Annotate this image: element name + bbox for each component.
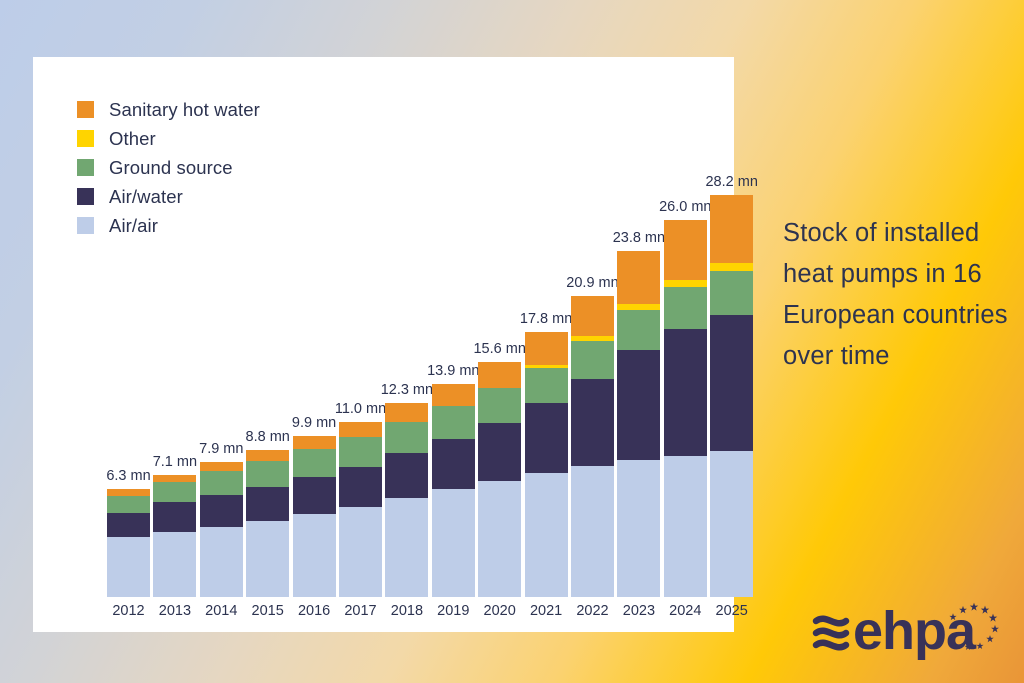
bar-segment-ground-source	[710, 271, 753, 315]
bar-total-label: 23.8 mn	[613, 230, 665, 246]
bar-segment-air-water	[339, 467, 382, 507]
bar-group-2016[interactable]: 9.9 mn2016	[293, 436, 336, 597]
bar-group-2020[interactable]: 15.6 mn2020	[478, 362, 521, 597]
bar-group-2025[interactable]: 28.2 mn2025	[710, 195, 753, 597]
bar-segment-air-water	[246, 487, 289, 521]
bar-segment-air-air	[339, 507, 382, 597]
x-axis-tick-2025: 2025	[716, 603, 748, 619]
stacked-bar[interactable]: 15.6 mn	[478, 362, 521, 597]
bar-segment-sanitary-hot-water	[153, 475, 196, 482]
bar-group-2012[interactable]: 6.3 mn2012	[107, 489, 150, 597]
bar-total-label: 20.9 mn	[566, 275, 618, 291]
bar-group-2022[interactable]: 20.9 mn2022	[571, 296, 614, 597]
bar-segment-air-water	[710, 315, 753, 451]
stacked-bar[interactable]: 28.2 mn	[710, 195, 753, 597]
stacked-bar[interactable]: 11.0 mn	[339, 422, 382, 597]
bar-group-2021[interactable]: 17.8 mn2021	[525, 332, 568, 597]
bar-segment-ground-source	[153, 482, 196, 502]
bar-segment-air-air	[478, 481, 521, 597]
stacked-bar[interactable]: 7.1 mn	[153, 475, 196, 597]
bar-total-label: 28.2 mn	[705, 174, 757, 190]
x-axis-tick-2020: 2020	[484, 603, 516, 619]
legend-item-label: Air/air	[109, 215, 158, 237]
x-axis-tick-2019: 2019	[437, 603, 469, 619]
bar-segment-air-air	[664, 456, 707, 597]
bar-total-label: 12.3 mn	[381, 382, 433, 398]
bar-segment-ground-source	[525, 368, 568, 403]
bar-segment-air-water	[571, 379, 614, 466]
bar-segment-sanitary-hot-water	[571, 296, 614, 336]
bar-segment-ground-source	[200, 471, 243, 495]
bar-total-label: 17.8 mn	[520, 311, 572, 327]
bar-total-label: 6.3 mn	[106, 468, 150, 484]
bar-total-label: 8.8 mn	[246, 429, 290, 445]
bar-group-2013[interactable]: 7.1 mn2013	[153, 475, 196, 597]
x-axis-tick-2018: 2018	[391, 603, 423, 619]
stacked-bar[interactable]: 13.9 mn	[432, 384, 475, 597]
legend-item-label: Other	[109, 128, 156, 150]
bar-group-2023[interactable]: 23.8 mn2023	[617, 251, 660, 597]
bar-segment-air-water	[107, 513, 150, 537]
bar-segment-air-air	[246, 521, 289, 597]
legend-item-sanitary-hot-water[interactable]: Sanitary hot water	[77, 95, 260, 124]
bar-segment-air-water	[617, 350, 660, 460]
bar-total-label: 7.9 mn	[199, 441, 243, 457]
bar-group-2015[interactable]: 8.8 mn2015	[246, 450, 289, 597]
stacked-bar[interactable]: 26.0 mn	[664, 220, 707, 597]
bar-segment-air-water	[385, 453, 428, 498]
bar-segment-air-air	[571, 466, 614, 597]
bar-segment-air-water	[432, 439, 475, 489]
page-title: Stock of installed heat pumps in 16 Euro…	[783, 213, 1008, 377]
bar-segment-air-water	[525, 403, 568, 473]
bar-segment-sanitary-hot-water	[525, 332, 568, 365]
bar-segment-air-air	[107, 537, 150, 597]
bar-segment-air-air	[153, 532, 196, 597]
stacked-bar[interactable]: 9.9 mn	[293, 436, 336, 597]
bar-segment-ground-source	[664, 287, 707, 329]
bar-segment-air-water	[293, 477, 336, 514]
bar-segment-air-air	[617, 460, 660, 597]
stacked-bar[interactable]: 8.8 mn	[246, 450, 289, 597]
chart-panel: 6.3 mn20127.1 mn20137.9 mn20148.8 mn2015…	[33, 57, 734, 632]
bar-segment-ground-source	[478, 388, 521, 423]
bar-segment-air-air	[293, 514, 336, 597]
x-axis-tick-2022: 2022	[576, 603, 608, 619]
bar-segment-air-air	[525, 473, 568, 597]
bar-segment-ground-source	[339, 437, 382, 467]
bar-segment-sanitary-hot-water	[617, 251, 660, 304]
stacked-bar[interactable]: 23.8 mn	[617, 251, 660, 597]
legend-swatch-icon	[77, 159, 94, 176]
bar-segment-ground-source	[617, 310, 660, 350]
bar-segment-other	[710, 263, 753, 271]
x-axis-tick-2023: 2023	[623, 603, 655, 619]
bar-segment-sanitary-hot-water	[293, 436, 336, 449]
x-axis-tick-2014: 2014	[205, 603, 237, 619]
bar-segment-air-air	[200, 527, 243, 597]
bar-segment-air-water	[200, 495, 243, 527]
logo-wordmark: ehpa	[853, 601, 977, 661]
bar-total-label: 7.1 mn	[153, 454, 197, 470]
bar-segment-air-water	[478, 423, 521, 481]
bar-segment-ground-source	[293, 449, 336, 477]
stacked-bar[interactable]: 6.3 mn	[107, 489, 150, 597]
bar-segment-ground-source	[432, 406, 475, 439]
ehpa-logo: ehpa	[812, 592, 1002, 662]
legend-swatch-icon	[77, 130, 94, 147]
bar-segment-sanitary-hot-water	[246, 450, 289, 461]
bar-total-label: 15.6 mn	[473, 341, 525, 357]
x-axis-tick-2012: 2012	[112, 603, 144, 619]
bar-segment-air-air	[710, 451, 753, 597]
legend-item-label: Sanitary hot water	[109, 99, 260, 121]
bar-segment-sanitary-hot-water	[200, 462, 243, 471]
bar-total-label: 9.9 mn	[292, 415, 336, 431]
legend-item-label: Air/water	[109, 186, 183, 208]
stacked-bar[interactable]: 12.3 mn	[385, 403, 428, 597]
legend-swatch-icon	[77, 217, 94, 234]
chart-legend: Sanitary hot waterOtherGround sourceAir/…	[77, 95, 260, 240]
bar-segment-ground-source	[246, 461, 289, 487]
legend-swatch-icon	[77, 188, 94, 205]
legend-item-air-water[interactable]: Air/water	[77, 182, 260, 211]
bar-segment-ground-source	[385, 422, 428, 453]
x-axis-tick-2015: 2015	[252, 603, 284, 619]
bar-segment-sanitary-hot-water	[385, 403, 428, 422]
stacked-bar[interactable]: 20.9 mn	[571, 296, 614, 597]
bar-segment-ground-source	[107, 496, 150, 513]
bar-total-label: 26.0 mn	[659, 199, 711, 215]
bar-segment-sanitary-hot-water	[478, 362, 521, 388]
bar-group-2024[interactable]: 26.0 mn2024	[664, 220, 707, 597]
bar-group-2017[interactable]: 11.0 mn2017	[339, 422, 382, 597]
bar-total-label: 13.9 mn	[427, 363, 479, 379]
bar-segment-air-water	[664, 329, 707, 456]
x-axis-tick-2017: 2017	[344, 603, 376, 619]
waves-icon	[816, 619, 846, 648]
legend-item-other[interactable]: Other	[77, 124, 260, 153]
bar-group-2019[interactable]: 13.9 mn2019	[432, 384, 475, 597]
bar-group-2018[interactable]: 12.3 mn2018	[385, 403, 428, 597]
bar-segment-air-air	[432, 489, 475, 597]
bar-segment-other	[664, 280, 707, 287]
legend-item-label: Ground source	[109, 157, 233, 179]
x-axis-tick-2024: 2024	[669, 603, 701, 619]
x-axis-tick-2021: 2021	[530, 603, 562, 619]
stacked-bar[interactable]: 7.9 mn	[200, 462, 243, 597]
bar-segment-air-air	[385, 498, 428, 597]
x-axis-tick-2013: 2013	[159, 603, 191, 619]
legend-item-ground-source[interactable]: Ground source	[77, 153, 260, 182]
bar-segment-sanitary-hot-water	[710, 195, 753, 263]
bar-segment-air-water	[153, 502, 196, 532]
stacked-bar[interactable]: 17.8 mn	[525, 332, 568, 597]
bar-segment-sanitary-hot-water	[339, 422, 382, 437]
x-axis-tick-2016: 2016	[298, 603, 330, 619]
bar-group-2014[interactable]: 7.9 mn2014	[200, 462, 243, 597]
bar-segment-sanitary-hot-water	[664, 220, 707, 280]
bar-total-label: 11.0 mn	[335, 401, 386, 417]
legend-item-air-air[interactable]: Air/air	[77, 211, 260, 240]
bar-segment-ground-source	[571, 341, 614, 379]
bar-segment-sanitary-hot-water	[432, 384, 475, 406]
legend-swatch-icon	[77, 101, 94, 118]
bar-segment-sanitary-hot-water	[107, 489, 150, 496]
